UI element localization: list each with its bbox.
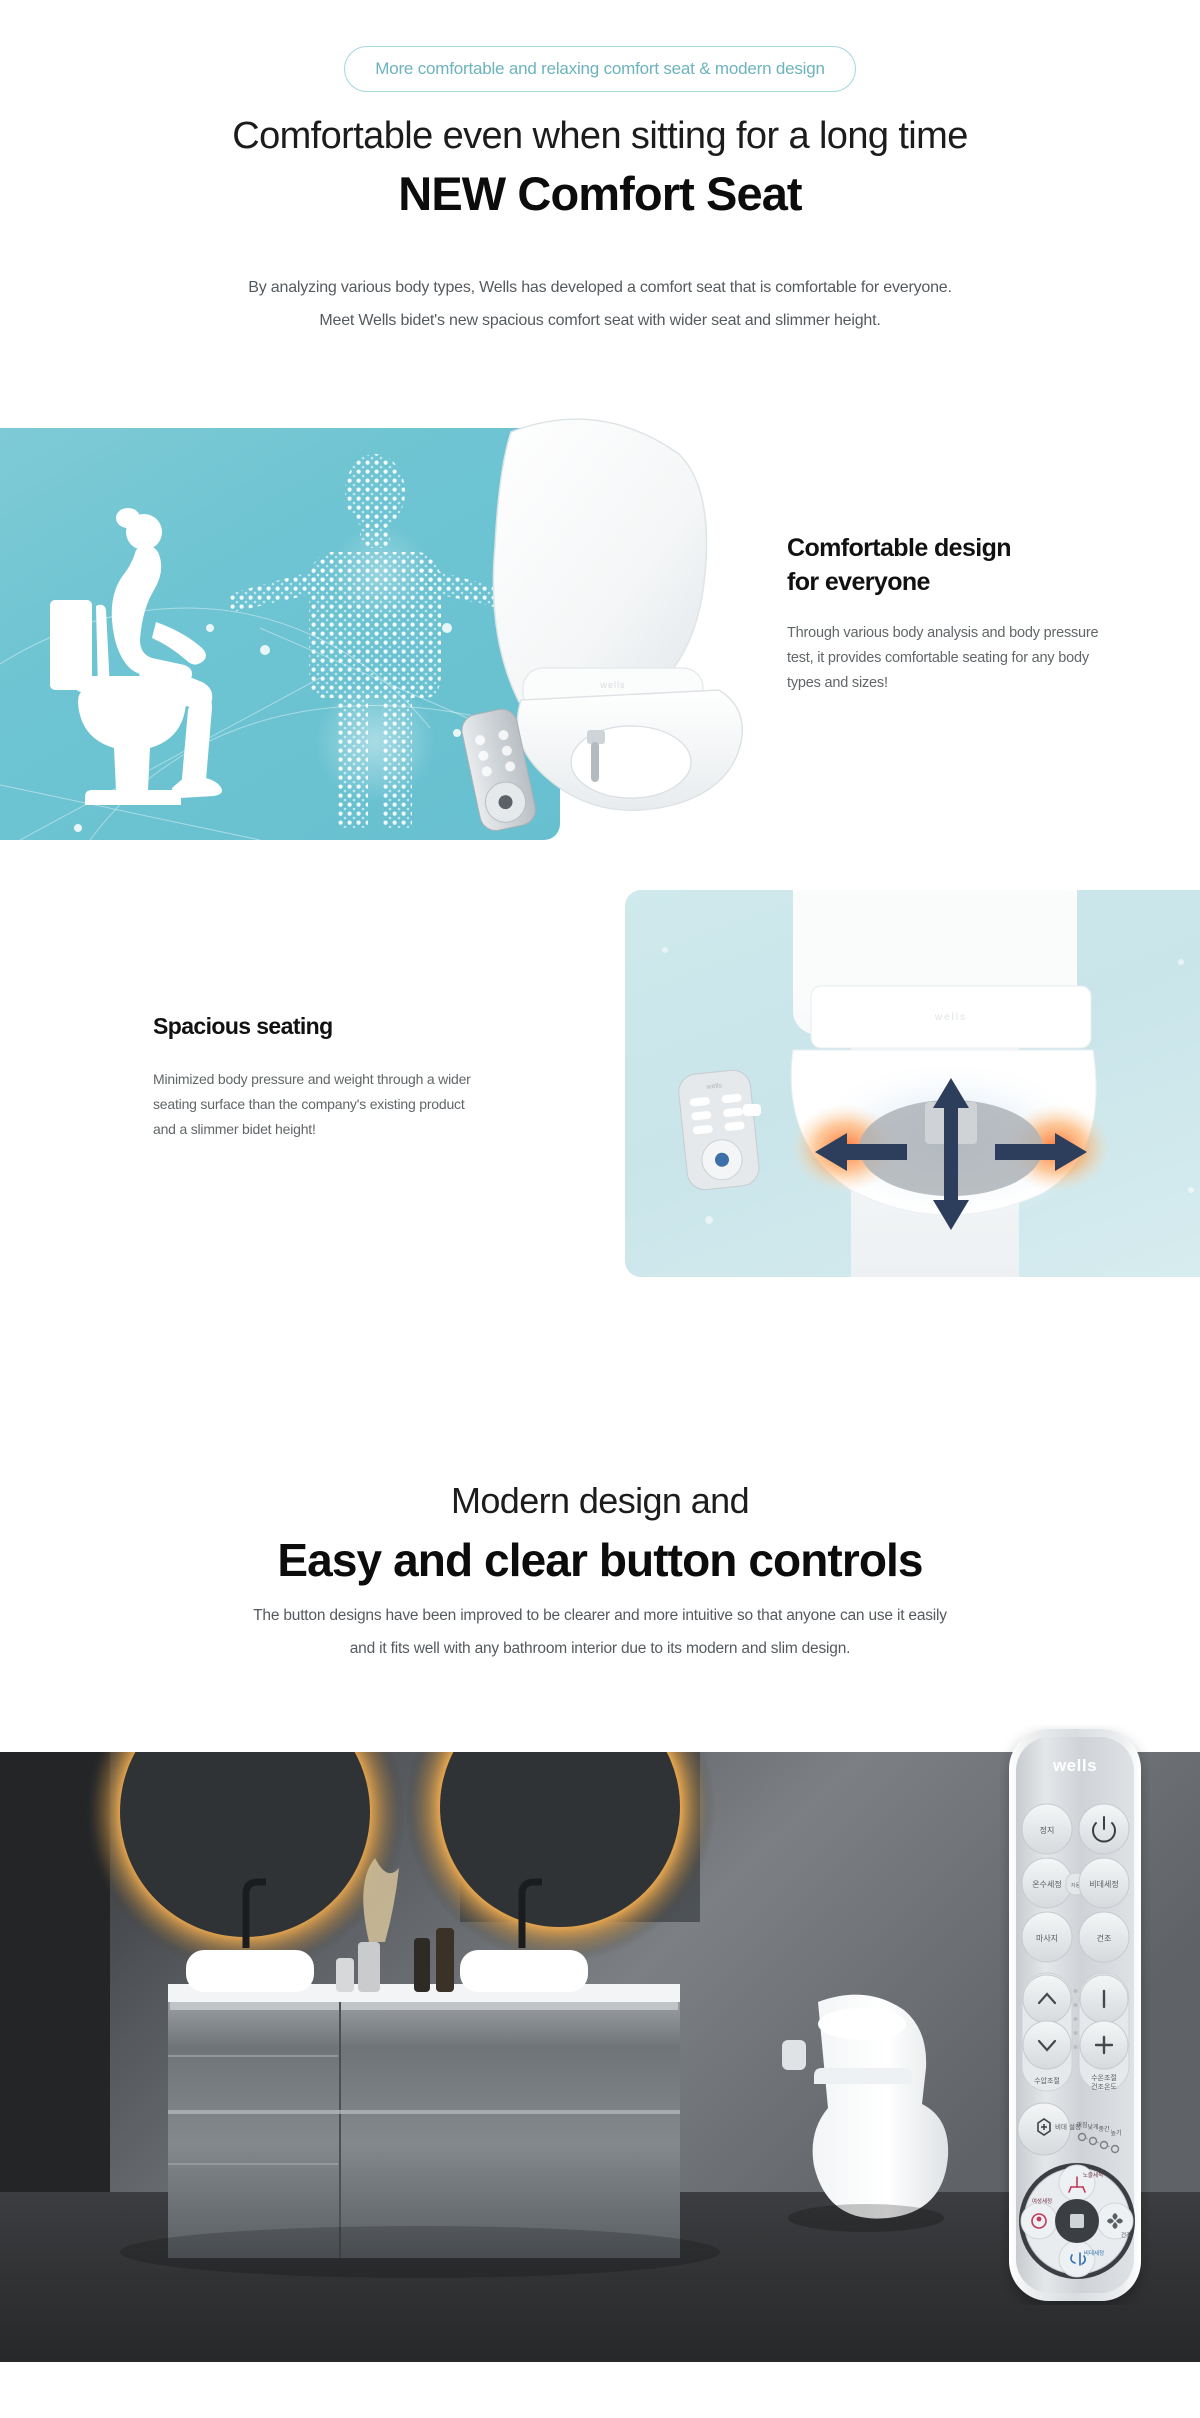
section3-description-line2: and it fits well with any bathroom inter… <box>0 1633 1200 1666</box>
basin-left <box>186 1950 314 1992</box>
svg-text:건조: 건조 <box>1121 2232 1131 2239</box>
feature1-title-line2: for everyone <box>787 568 930 596</box>
product-landing-page: More comfortable and relaxing comfort se… <box>0 0 1200 2418</box>
remote-button-level-down[interactable] <box>1023 2021 1071 2069</box>
wells-bidet-remote-control[interactable]: wells 정지 온수세정 자동 비데세정 마 <box>1000 1725 1150 2305</box>
remote-brand-label: wells <box>1052 1756 1097 1775</box>
svg-text:낮게: 낮게 <box>1087 2123 1098 2131</box>
section1-subheading: Comfortable even when sitting for a long… <box>0 113 1200 161</box>
stop-square-icon <box>1070 2214 1084 2228</box>
dial-button-dry[interactable]: 건조 <box>1097 2203 1133 2239</box>
svg-text:wells: wells <box>934 1012 967 1023</box>
section3-heading: Easy and clear button controls <box>0 1533 1200 1587</box>
feature-spacious-seating-body: Minimized body pressure and weight throu… <box>153 1067 483 1142</box>
svg-text:비데세정: 비데세정 <box>1089 1879 1118 1889</box>
feature1-title-line1: Comfortable design <box>787 534 1011 562</box>
svg-text:온수세정: 온수세정 <box>1032 1879 1061 1889</box>
spacious-seating-illustration: wells wells <box>625 890 1200 1277</box>
remote-button-stop[interactable]: 정지 <box>1022 1804 1072 1854</box>
remote-button-rear-wash[interactable]: 온수세정 <box>1022 1858 1072 1908</box>
section3-subheading: Modern design and <box>0 1480 1200 1522</box>
dial-button-stop-center[interactable] <box>1055 2199 1099 2243</box>
remote-button-power[interactable] <box>1079 1804 1129 1854</box>
remote-button-massage[interactable]: 마사지 <box>1022 1912 1072 1962</box>
svg-text:꺼짐: 꺼짐 <box>1076 2121 1087 2129</box>
feature-comfortable-design-title: Comfortable design for everyone <box>787 532 1117 599</box>
remote-button-level-up[interactable] <box>1023 1975 1071 2023</box>
svg-text:정지: 정지 <box>1040 1825 1055 1835</box>
feature-comfortable-design-body: Through various body analysis and body p… <box>787 621 1117 696</box>
section1-description-line1: By analyzing various body types, Wells h… <box>0 272 1200 305</box>
svg-text:높기: 높기 <box>1110 2129 1121 2137</box>
svg-text:수압조절: 수압조절 <box>1034 2077 1060 2085</box>
svg-text:건조: 건조 <box>1097 1933 1112 1943</box>
feature-comfortable-design-block: Comfortable design for everyone Through … <box>787 532 1117 696</box>
svg-text:여성세정: 여성세정 <box>1032 2197 1052 2205</box>
svg-text:wells: wells <box>599 680 625 690</box>
svg-text:노즐세척: 노즐세척 <box>1083 2171 1103 2179</box>
badge-row: More comfortable and relaxing comfort se… <box>0 46 1200 92</box>
svg-text:건조온도: 건조온도 <box>1091 2082 1117 2091</box>
bidet-topview-arrows-graphic: wells wells <box>625 890 1200 1277</box>
section3-description: The button designs have been improved to… <box>0 1600 1200 1665</box>
feature-spacious-seating-title: Spacious seating <box>153 1012 483 1042</box>
remote-button-dry[interactable]: 건조 <box>1079 1912 1129 1962</box>
tagline-badge: More comfortable and relaxing comfort se… <box>344 46 856 92</box>
remote-button-temp-minus[interactable] <box>1080 1975 1128 2023</box>
svg-text:마사지: 마사지 <box>1036 1934 1058 1943</box>
svg-text:비데세정: 비데세정 <box>1084 2249 1104 2257</box>
section3-description-line1: The button designs have been improved to… <box>0 1600 1200 1633</box>
bidet-seat-product-image: wells <box>455 400 775 850</box>
remote-button-temp-plus[interactable] <box>1080 2021 1128 2069</box>
svg-text:수온조절: 수온조절 <box>1091 2074 1117 2082</box>
section1-heading: NEW Comfort Seat <box>0 165 1200 224</box>
basin-right <box>460 1950 588 1992</box>
section1-description-line2: Meet Wells bidet's new spacious comfort … <box>0 305 1200 338</box>
section1-description: By analyzing various body types, Wells h… <box>0 272 1200 338</box>
feature-spacious-seating-block: Spacious seating Minimized body pressure… <box>153 1012 483 1142</box>
svg-text:중간: 중간 <box>1098 2125 1110 2133</box>
remote-button-front-wash[interactable]: 비데세정 <box>1079 1858 1129 1908</box>
remote-main-dial[interactable]: 노즐세척 여성세정 건조 <box>1019 2163 1135 2279</box>
